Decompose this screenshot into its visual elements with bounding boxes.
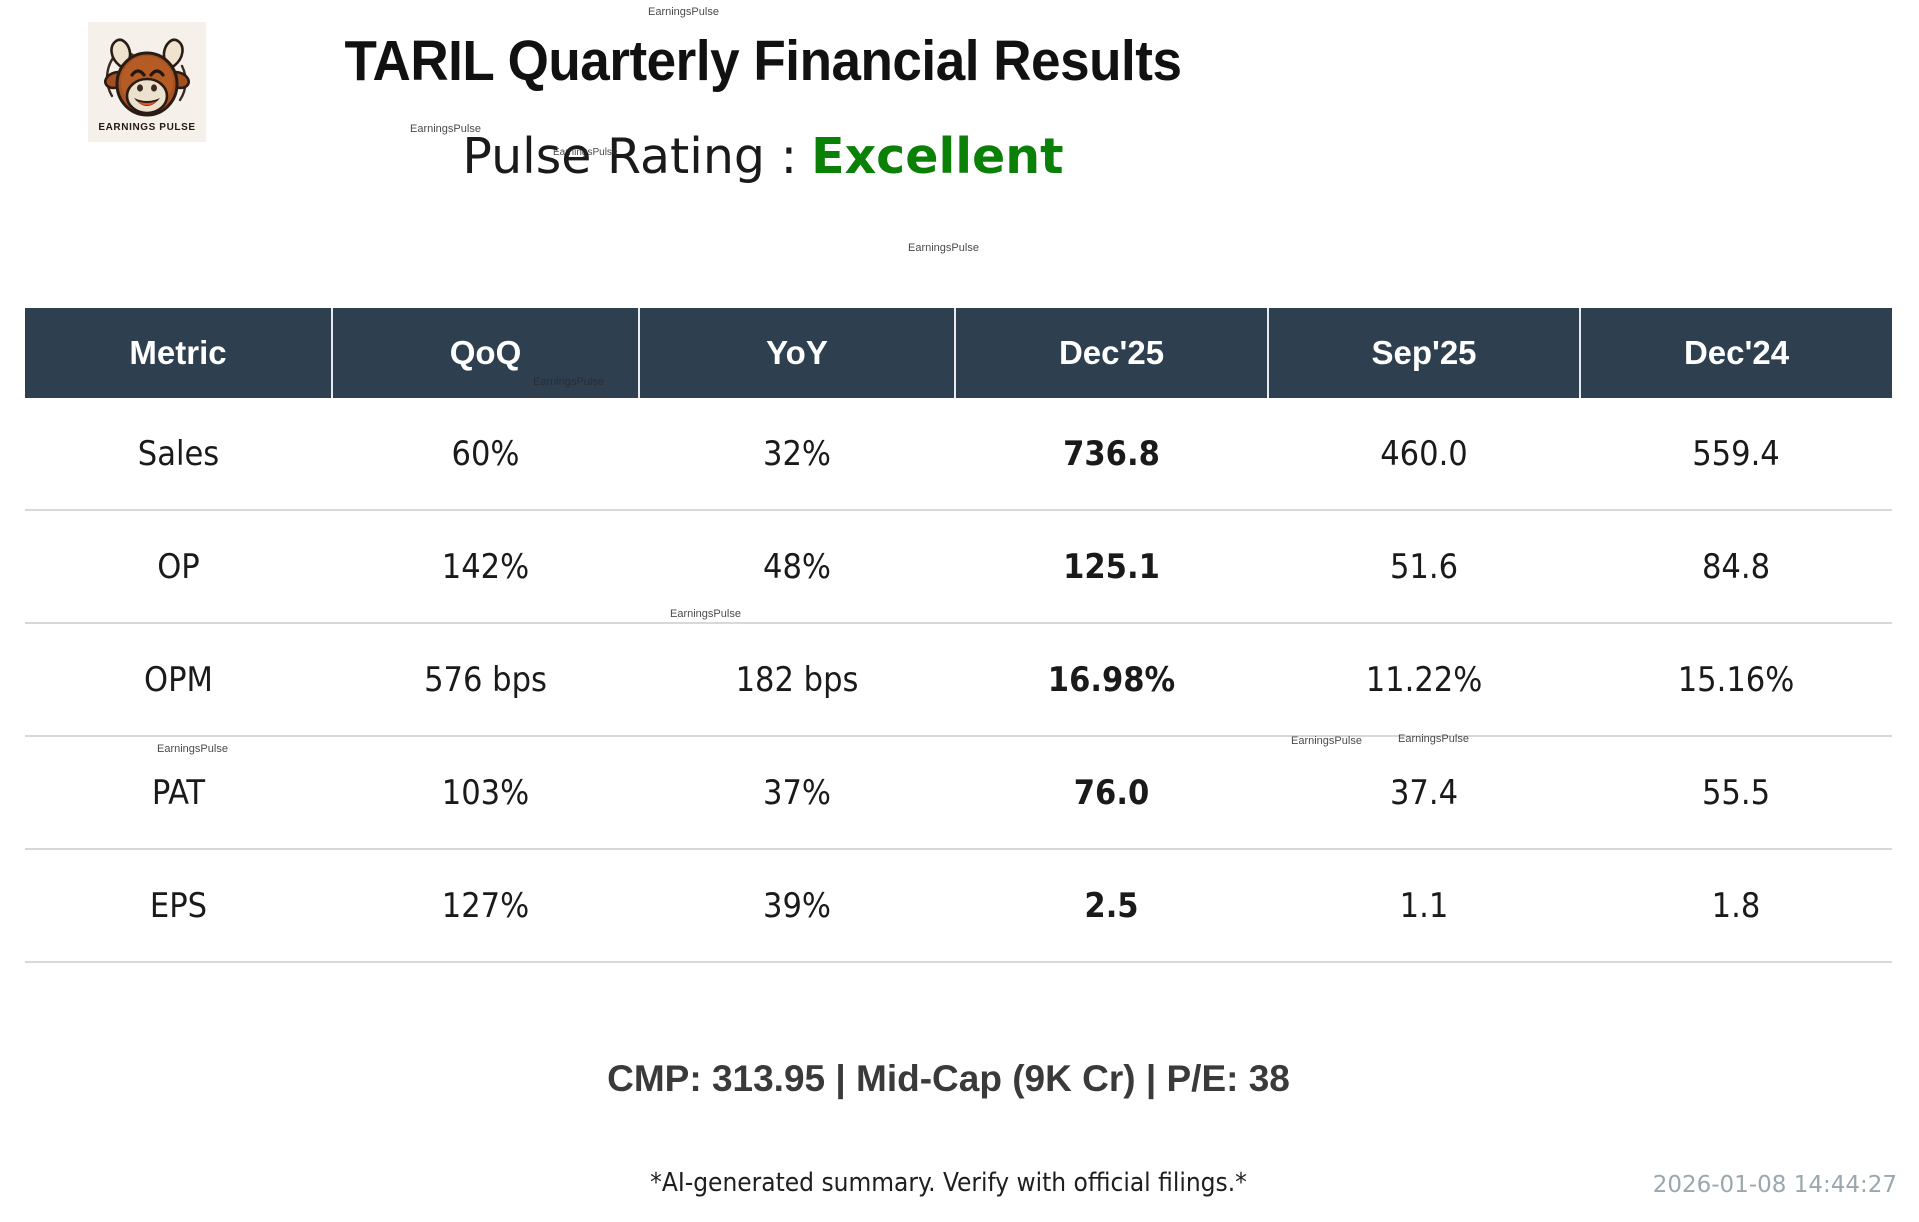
cell-prev-y: 15.16% bbox=[1580, 623, 1892, 736]
cell-yoy: 182 bps bbox=[639, 623, 955, 736]
cell-yoy: 48% bbox=[639, 510, 955, 623]
cell-yoy: 37% bbox=[639, 736, 955, 849]
cell-qoq: 576 bps bbox=[332, 623, 639, 736]
column-header-qoq: QoQ bbox=[332, 308, 639, 398]
pulse-rating-line: Pulse Rating :Excellent bbox=[0, 128, 1526, 185]
table-row: PAT 103% 37% 76.0 37.4 55.5 bbox=[25, 736, 1892, 849]
cell-metric: PAT bbox=[25, 736, 332, 849]
financial-results-table: Metric QoQ YoY Dec'25 Sep'25 Dec'24 Sale… bbox=[25, 308, 1892, 963]
column-header-sep25: Sep'25 bbox=[1268, 308, 1580, 398]
table-row: EPS 127% 39% 2.5 1.1 1.8 bbox=[25, 849, 1892, 962]
column-header-dec24: Dec'24 bbox=[1580, 308, 1892, 398]
cell-yoy: 32% bbox=[639, 398, 955, 510]
cell-qoq: 142% bbox=[332, 510, 639, 623]
cell-yoy: 39% bbox=[639, 849, 955, 962]
cell-prev-y: 84.8 bbox=[1580, 510, 1892, 623]
cell-current: 2.5 bbox=[955, 849, 1268, 962]
cell-current: 76.0 bbox=[955, 736, 1268, 849]
generated-timestamp: 2026-01-08 14:44:27 bbox=[1653, 1172, 1897, 1198]
cell-prev-q: 11.22% bbox=[1268, 623, 1580, 736]
cell-current: 736.8 bbox=[955, 398, 1268, 510]
cell-qoq: 127% bbox=[332, 849, 639, 962]
cell-prev-y: 55.5 bbox=[1580, 736, 1892, 849]
cell-prev-q: 1.1 bbox=[1268, 849, 1580, 962]
cell-prev-q: 51.6 bbox=[1268, 510, 1580, 623]
table-header-row: Metric QoQ YoY Dec'25 Sep'25 Dec'24 bbox=[25, 308, 1892, 398]
cell-prev-q: 37.4 bbox=[1268, 736, 1580, 849]
pulse-rating-value: Excellent bbox=[811, 128, 1064, 185]
column-header-yoy: YoY bbox=[639, 308, 955, 398]
cell-metric: Sales bbox=[25, 398, 332, 510]
cell-metric: OP bbox=[25, 510, 332, 623]
cell-prev-y: 559.4 bbox=[1580, 398, 1892, 510]
watermark-text: EarningsPulse bbox=[908, 242, 979, 254]
cell-prev-q: 460.0 bbox=[1268, 398, 1580, 510]
page-title: TARIL Quarterly Financial Results bbox=[53, 28, 1472, 94]
table-row: Sales 60% 32% 736.8 460.0 559.4 bbox=[25, 398, 1892, 510]
cmp-summary-line: CMP: 313.95 | Mid-Cap (9K Cr) | P/E: 38 bbox=[0, 1058, 1897, 1100]
cell-metric: OPM bbox=[25, 623, 332, 736]
table-row: OPM 576 bps 182 bps 16.98% 11.22% 15.16% bbox=[25, 623, 1892, 736]
column-header-dec25: Dec'25 bbox=[955, 308, 1268, 398]
cell-current: 16.98% bbox=[955, 623, 1268, 736]
disclaimer-text: *AI-generated summary. Verify with offic… bbox=[0, 1168, 1897, 1198]
column-header-metric: Metric bbox=[25, 308, 332, 398]
table-row: OP 142% 48% 125.1 51.6 84.8 bbox=[25, 510, 1892, 623]
cell-qoq: 103% bbox=[332, 736, 639, 849]
cell-qoq: 60% bbox=[332, 398, 639, 510]
watermark-text: EarningsPulse bbox=[648, 6, 719, 18]
cell-current: 125.1 bbox=[955, 510, 1268, 623]
cell-metric: EPS bbox=[25, 849, 332, 962]
pulse-rating-label: Pulse Rating : bbox=[462, 128, 797, 185]
cell-prev-y: 1.8 bbox=[1580, 849, 1892, 962]
